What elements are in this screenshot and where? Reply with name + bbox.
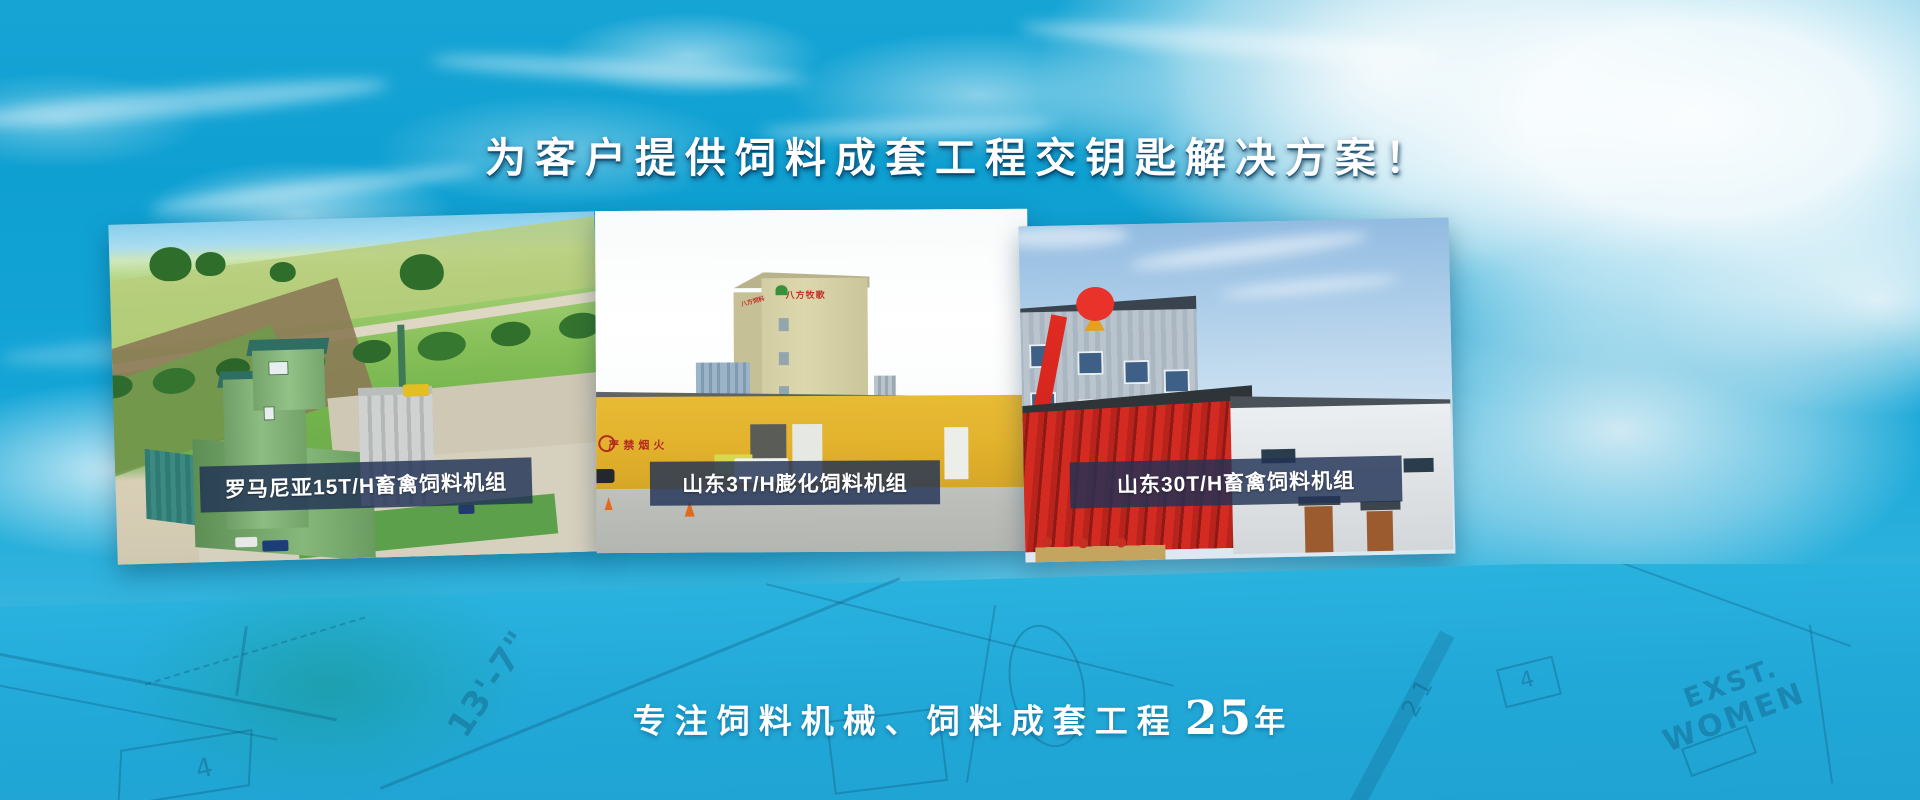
brand-sign-text: 八方牧歌 — [786, 288, 826, 301]
photo-caption-romania: 罗马尼亚15T/H畜禽饲料机组 — [199, 457, 532, 512]
tagline-years-number: 25 — [1185, 691, 1252, 746]
tagline-prefix: 专注饲料机械、饲料成套工程 — [633, 702, 1179, 741]
ceremony-attendees — [1035, 530, 1166, 563]
tree — [269, 262, 296, 283]
window — [263, 406, 274, 420]
banner-stage: 为客户提供饲料成套工程交钥匙解决方案！ — [0, 0, 1920, 800]
photo-shandong-30th-scene — [1019, 218, 1456, 563]
window — [779, 352, 789, 365]
tree — [399, 254, 444, 291]
vehicle — [595, 469, 614, 483]
vehicle — [262, 540, 288, 552]
banner-headline: 为客户提供饲料成套工程交钥匙解决方案！ — [0, 124, 1920, 184]
excavator — [403, 384, 429, 397]
window — [1077, 351, 1103, 376]
window — [268, 361, 288, 376]
entrance-door — [1304, 506, 1333, 553]
photo-caption-shandong-3th: 山东3T/H膨化饲料机组 — [650, 460, 940, 506]
entrance-door — [1367, 511, 1394, 552]
vehicle — [235, 537, 257, 548]
mill-tower-upper — [252, 349, 326, 411]
window — [1123, 360, 1149, 385]
photo-caption-shandong-30th: 山东30T/H畜禽饲料机组 — [1070, 456, 1403, 509]
photo-romania[interactable] — [108, 211, 603, 564]
photo-romania-scene — [108, 211, 603, 564]
vehicle — [458, 505, 474, 514]
window — [1403, 458, 1433, 473]
window — [779, 318, 789, 331]
window — [1164, 369, 1190, 394]
traffic-cone — [605, 497, 613, 510]
tree — [195, 252, 226, 277]
blueprint-band: 4 13'-7" 2 1 4 EXST. WOMEN — [0, 564, 1920, 800]
tree — [149, 247, 192, 282]
banner-tagline: 专注饲料机械、饲料成套工程25年 — [0, 691, 1920, 746]
tagline-years-unit: 年 — [1254, 704, 1287, 740]
no-fire-warning-text: 严禁烟火 — [608, 437, 668, 453]
photo-shandong-30th[interactable] — [1019, 218, 1456, 563]
warehouse-door — [944, 427, 968, 479]
